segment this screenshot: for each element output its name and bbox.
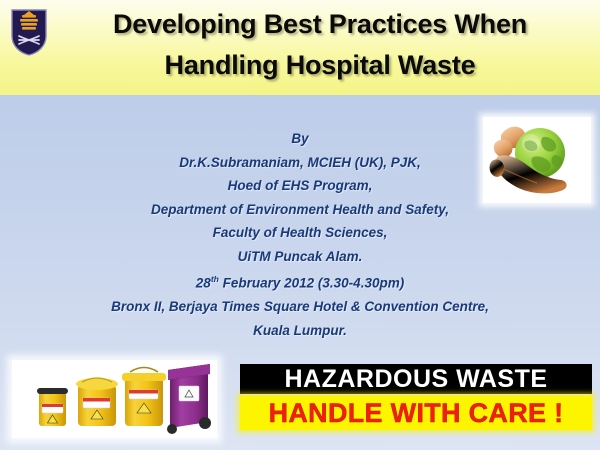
body-line-venue: Bronx II, Berjaya Times Square Hotel & C… — [0, 295, 600, 319]
body-line-date: 28th February 2012 (3.30-4.30pm) — [0, 268, 600, 295]
hands-holding-green-globe-photo — [483, 117, 591, 203]
body-line-faculty: Faculty of Health Sciences, — [0, 221, 600, 245]
date-day: 28 — [196, 276, 211, 291]
date-rest: February 2012 (3.30-4.30pm) — [219, 276, 404, 291]
presentation-slide: Developing Best Practices When Handling … — [0, 0, 600, 450]
date-ordinal-suffix: th — [211, 274, 219, 284]
hazard-banner-bottom-text: HANDLE WITH CARE ! — [269, 396, 564, 430]
clinical-waste-bins-photo — [12, 360, 217, 438]
slide-title: Developing Best Practices When Handling … — [55, 4, 585, 92]
hazard-banner-top-bar: HAZARDOUS WASTE — [240, 364, 592, 394]
body-line-campus: UiTM Puncak Alam. — [0, 245, 600, 269]
hazard-banner-top-text: HAZARDOUS WASTE — [284, 364, 547, 394]
uitm-crest-logo — [10, 8, 48, 56]
hazardous-waste-banner: HAZARDOUS WASTE HANDLE WITH CARE ! — [240, 364, 592, 430]
hazard-banner-bottom-bar: HANDLE WITH CARE ! — [240, 396, 592, 430]
slide-header-band: Developing Best Practices When Handling … — [0, 0, 600, 95]
body-line-city: Kuala Lumpur. — [0, 319, 600, 343]
title-line-1: Developing Best Practices When — [113, 4, 527, 45]
title-line-2: Handling Hospital Waste — [165, 45, 476, 86]
